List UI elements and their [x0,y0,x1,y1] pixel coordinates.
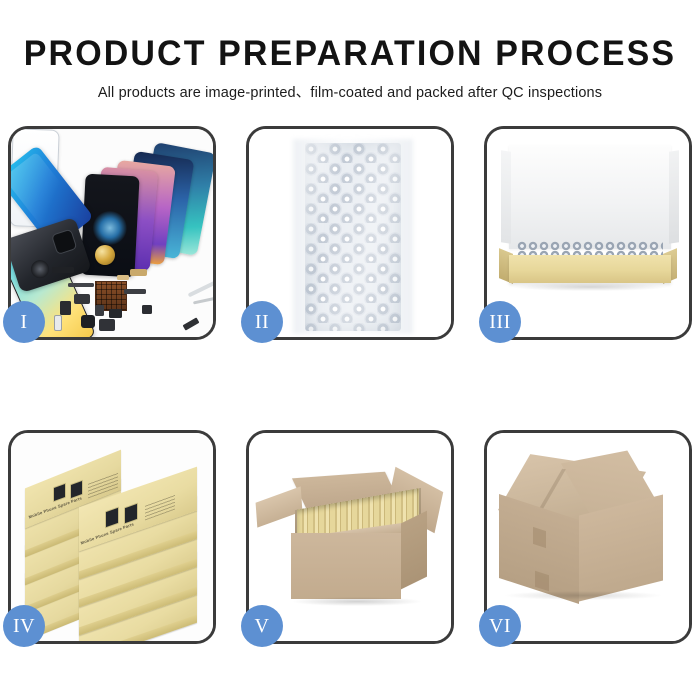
spare-part-icon [60,301,71,315]
spare-part-icon [54,315,62,331]
step-3-image [487,129,689,337]
spare-part-icon [117,275,129,280]
step-4-image: Mobile Phone Spare Parts [11,433,213,641]
step-1-image [11,129,213,337]
page-subtitle: All products are image-printed、film-coat… [0,86,700,101]
open-carton-illustration [249,433,451,641]
process-step-panel-2: II [246,126,454,340]
step-6-image [487,433,689,641]
spare-part-icon [81,315,95,328]
spare-part-icon [52,267,74,273]
process-step-panel-4: Mobile Phone Spare Parts [8,430,216,644]
kraft-box-front-icon [509,255,671,283]
step-badge-1: I [3,301,45,343]
spare-part-icon [74,294,90,304]
header: PRODUCT PREPARATION PROCESS All products… [0,0,700,101]
process-step-panel-6: VI [484,430,692,644]
box-shadow [513,283,667,291]
process-step-panel-3: III [484,126,692,340]
page-title: PRODUCT PREPARATION PROCESS [11,36,690,71]
repair-tool-icon [183,317,200,330]
process-step-grid: I II [8,126,692,660]
spare-part-icon [99,319,115,331]
step-badge-6: VI [479,605,521,647]
step-badge-3: III [479,301,521,343]
phone-rear-housing-icon [11,217,92,293]
spare-part-icon [124,289,146,294]
phones-and-parts-illustration [11,129,213,337]
spare-part-icon [95,305,104,316]
step-2-image [249,129,451,337]
spare-part-icon [68,283,94,287]
spare-part-icon [109,309,122,318]
spare-part-icon [130,269,147,276]
sealed-carton-illustration [487,433,689,641]
spare-part-icon [142,305,152,314]
carton-front-face [291,533,401,599]
coil-part-icon [95,245,115,265]
cable-icon [188,281,213,298]
product-preparation-process-infographic: PRODUCT PREPARATION PROCESS All products… [0,0,700,700]
box-stack-illustration: Mobile Phone Spare Parts [11,433,213,641]
mailer-box-illustration [487,129,689,337]
process-step-panel-1: I [8,126,216,340]
carton-shadow [505,591,661,600]
bubble-wrap-sheen [305,143,401,331]
carton-shadow [293,597,421,606]
box-lid-icon [509,145,671,249]
process-step-panel-5: V [246,430,454,644]
step-badge-4: IV [3,605,45,647]
step-5-image [249,433,451,641]
step-badge-5: V [241,605,283,647]
bubble-wrap-illustration [249,129,451,337]
cable-icon [193,297,213,305]
step-badge-2: II [241,301,283,343]
carton-side-face [401,511,427,590]
